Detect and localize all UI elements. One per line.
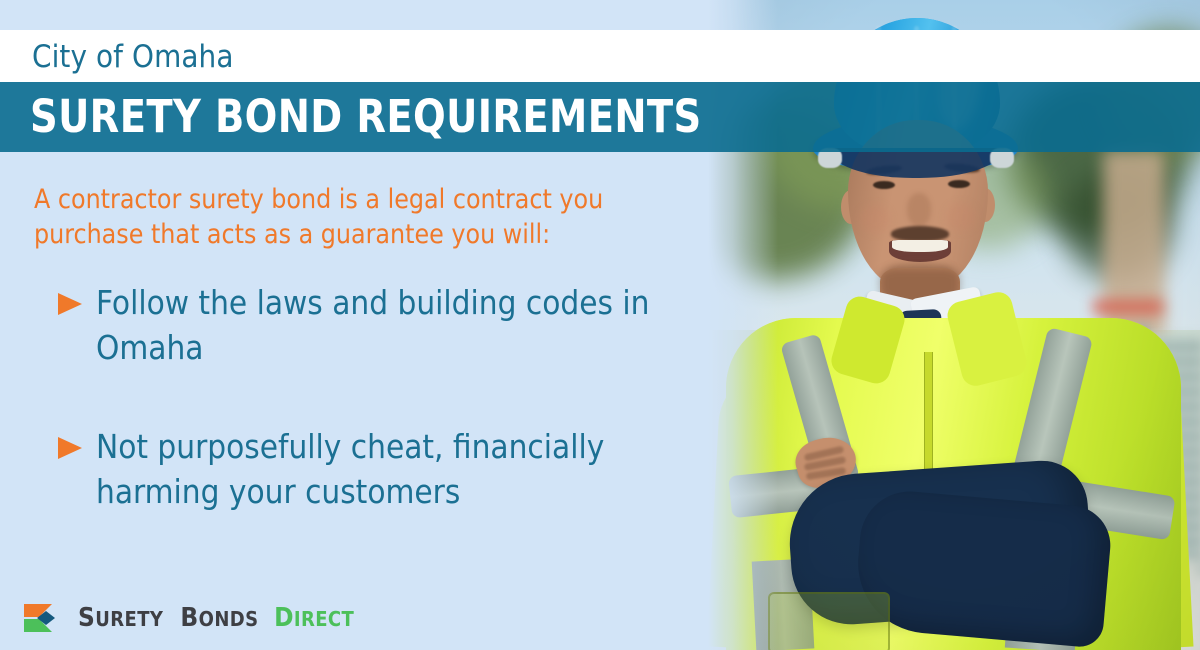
jacket-pocket	[768, 592, 890, 650]
list-item: Not purposefully cheat, financially harm…	[58, 424, 678, 514]
content-panel: A contractor surety bond is a legal cont…	[0, 152, 708, 650]
brand-logo-text: SURETY BONDS DIRECT	[78, 603, 354, 633]
triangle-right-icon	[58, 280, 96, 315]
eye-left	[873, 181, 895, 189]
smiling-mouth	[889, 240, 951, 262]
brand-logo[interactable]: SURETY BONDS DIRECT	[22, 598, 354, 638]
cheek-left	[860, 205, 890, 233]
logo-word-bonds: BONDS	[172, 603, 259, 633]
page-title: SURETY BOND REQUIREMENTS	[30, 88, 702, 146]
mustache	[891, 226, 949, 241]
nose	[907, 193, 931, 227]
infographic-canvas: City of Omaha SURETY BOND REQUIREMENTS A…	[0, 0, 1200, 650]
logo-word-surety: SURETY	[78, 603, 163, 633]
arrow-chevron-logo-icon	[22, 602, 68, 634]
list-item-label: Not purposefully cheat, financially harm…	[96, 424, 678, 514]
eye-right	[948, 180, 970, 188]
logo-word-direct: DIRECT	[274, 603, 354, 633]
list-item-label: Follow the laws and building codes in Om…	[96, 280, 678, 370]
cheek-right	[946, 203, 976, 231]
teeth	[892, 240, 948, 252]
eyebrow-label: City of Omaha	[32, 36, 234, 78]
intro-paragraph: A contractor surety bond is a legal cont…	[34, 182, 694, 252]
list-item: Follow the laws and building codes in Om…	[58, 280, 678, 370]
triangle-right-icon	[58, 424, 96, 459]
